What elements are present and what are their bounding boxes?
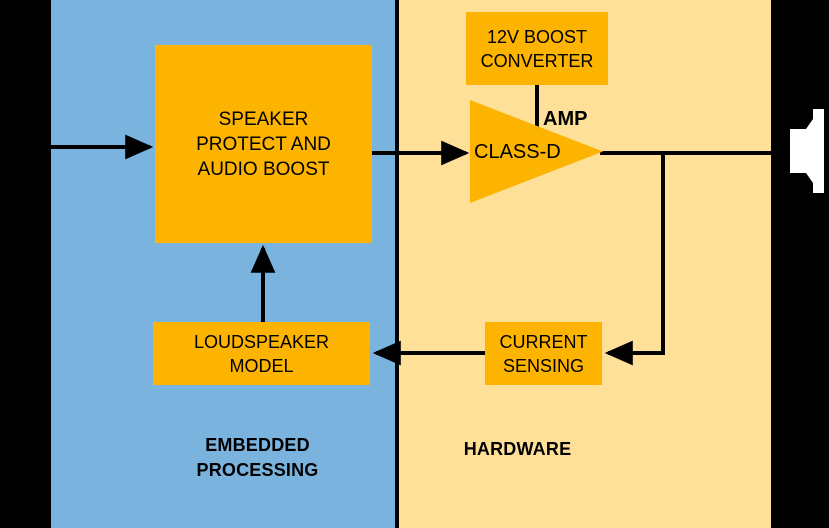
block-label-line-3: AUDIO BOOST (198, 159, 330, 180)
block-boost-converter-label: 12V BOOST CONVERTER (481, 25, 594, 73)
caption-line-1: EMBEDDED (205, 435, 310, 455)
block-speaker-protect-label: SPEAKER PROTECT AND AUDIO BOOST (196, 107, 331, 182)
block-diagram: SPEAKER PROTECT AND AUDIO BOOST LOUDSPEA… (0, 0, 829, 528)
block-12v-boost-converter[interactable]: 12V BOOST CONVERTER (466, 12, 608, 85)
caption-line-2: PROCESSING (196, 460, 318, 480)
block-class-d-label: CLASS-D (474, 139, 561, 165)
block-label-line-2: MODEL (229, 356, 293, 376)
embedded-processing-caption: EMBEDDED PROCESSING (155, 433, 360, 483)
block-label-line-2: PROTECT AND (196, 134, 331, 155)
block-label-line-1: SPEAKER (219, 109, 309, 130)
block-label-line-1: LOUDSPEAKER (194, 332, 329, 352)
hardware-caption: HARDWARE (420, 437, 615, 462)
amp-annotation-label: AMP (543, 106, 587, 132)
block-label-line-1: 12V BOOST (487, 27, 587, 47)
block-loudspeaker-model-label: LOUDSPEAKER MODEL (194, 330, 329, 378)
panel-divider (395, 0, 399, 528)
block-current-sensing-label: CURRENT SENSING (500, 330, 588, 378)
block-current-sensing[interactable]: CURRENT SENSING (485, 322, 602, 385)
block-label-line-1: CURRENT (500, 332, 588, 352)
loudspeaker-icon (787, 107, 827, 195)
block-loudspeaker-model[interactable]: LOUDSPEAKER MODEL (153, 322, 370, 385)
block-label-line-2: SENSING (503, 356, 584, 376)
block-label-line-2: CONVERTER (481, 51, 594, 71)
block-speaker-protect-and-audio-boost[interactable]: SPEAKER PROTECT AND AUDIO BOOST (155, 45, 372, 243)
